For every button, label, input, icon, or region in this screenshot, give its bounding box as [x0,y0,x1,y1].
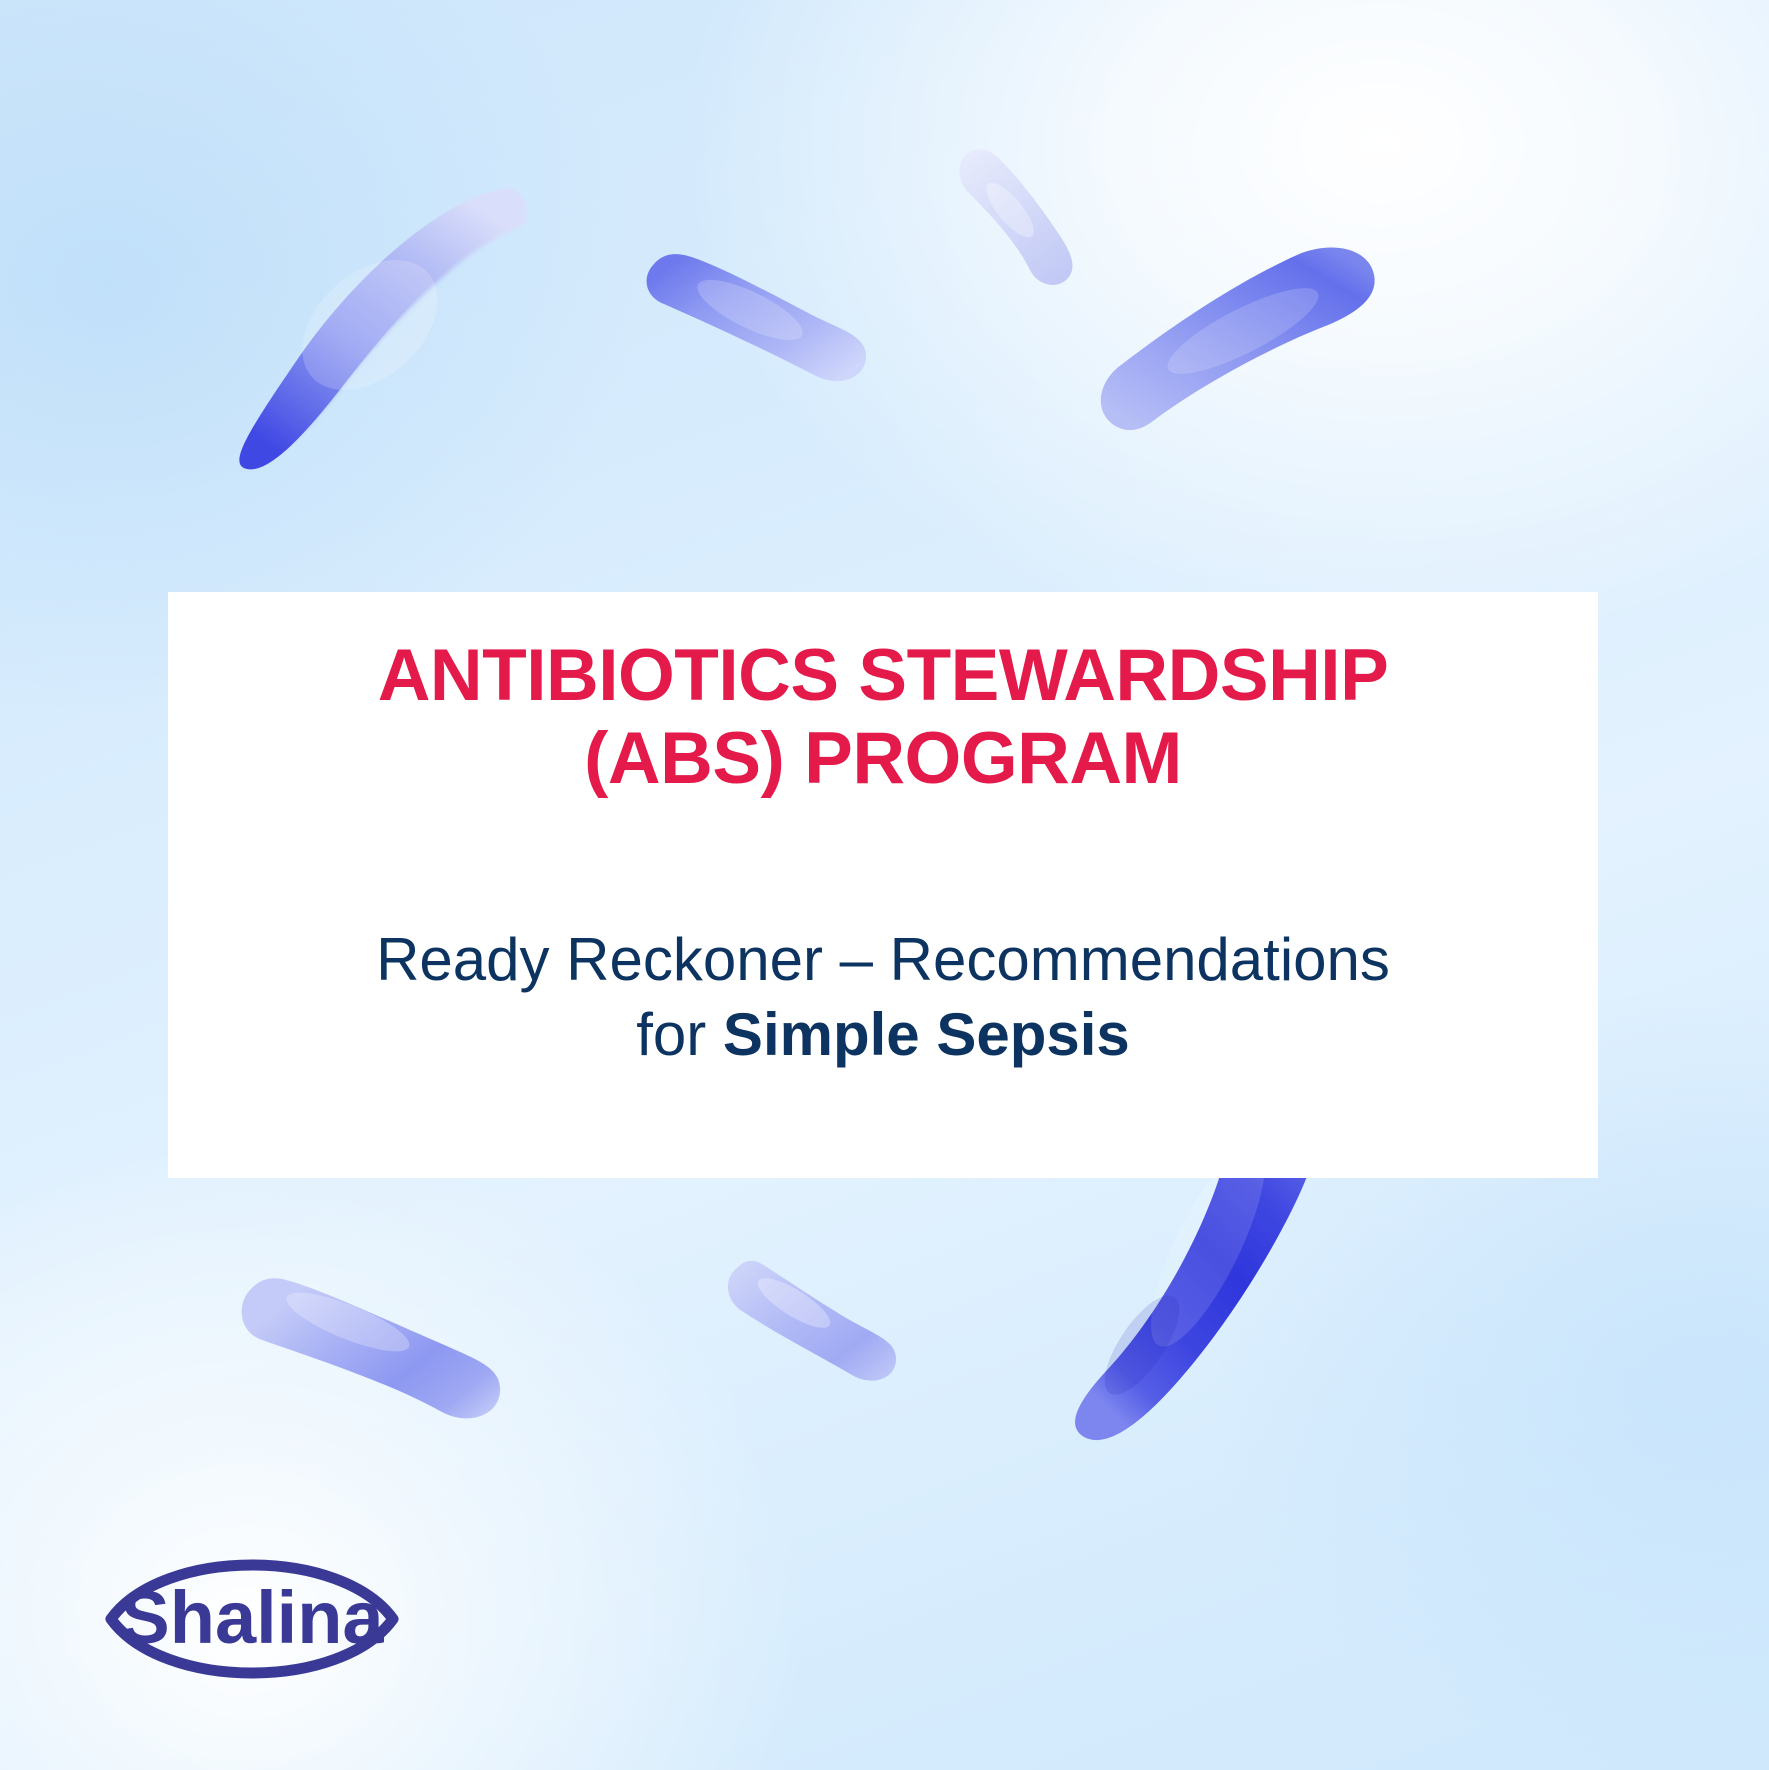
subtitle-emphasis: Simple Sepsis [723,1001,1130,1068]
title-line-2: (ABS) PROGRAM [208,717,1558,800]
poster-canvas: ANTIBIOTICS STEWARDSHIP (ABS) PROGRAM Re… [0,0,1769,1770]
logo-wordmark: Shalina [120,1576,384,1659]
page-title: ANTIBIOTICS STEWARDSHIP (ABS) PROGRAM [168,634,1598,800]
subtitle-line-1: Ready Reckoner – Recommendations [192,922,1574,997]
subtitle-line-2: for Simple Sepsis [192,997,1574,1072]
title-card: ANTIBIOTICS STEWARDSHIP (ABS) PROGRAM Re… [168,592,1598,1178]
page-subtitle: Ready Reckoner – Recommendations for Sim… [168,922,1598,1072]
shalina-logo: Shalina [103,1533,401,1705]
subtitle-prefix: for [636,1001,723,1068]
bacterium-bottom-left [228,1240,538,1440]
title-line-1: ANTIBIOTICS STEWARDSHIP [208,634,1558,717]
bacterium-bottom-center [712,1245,922,1405]
